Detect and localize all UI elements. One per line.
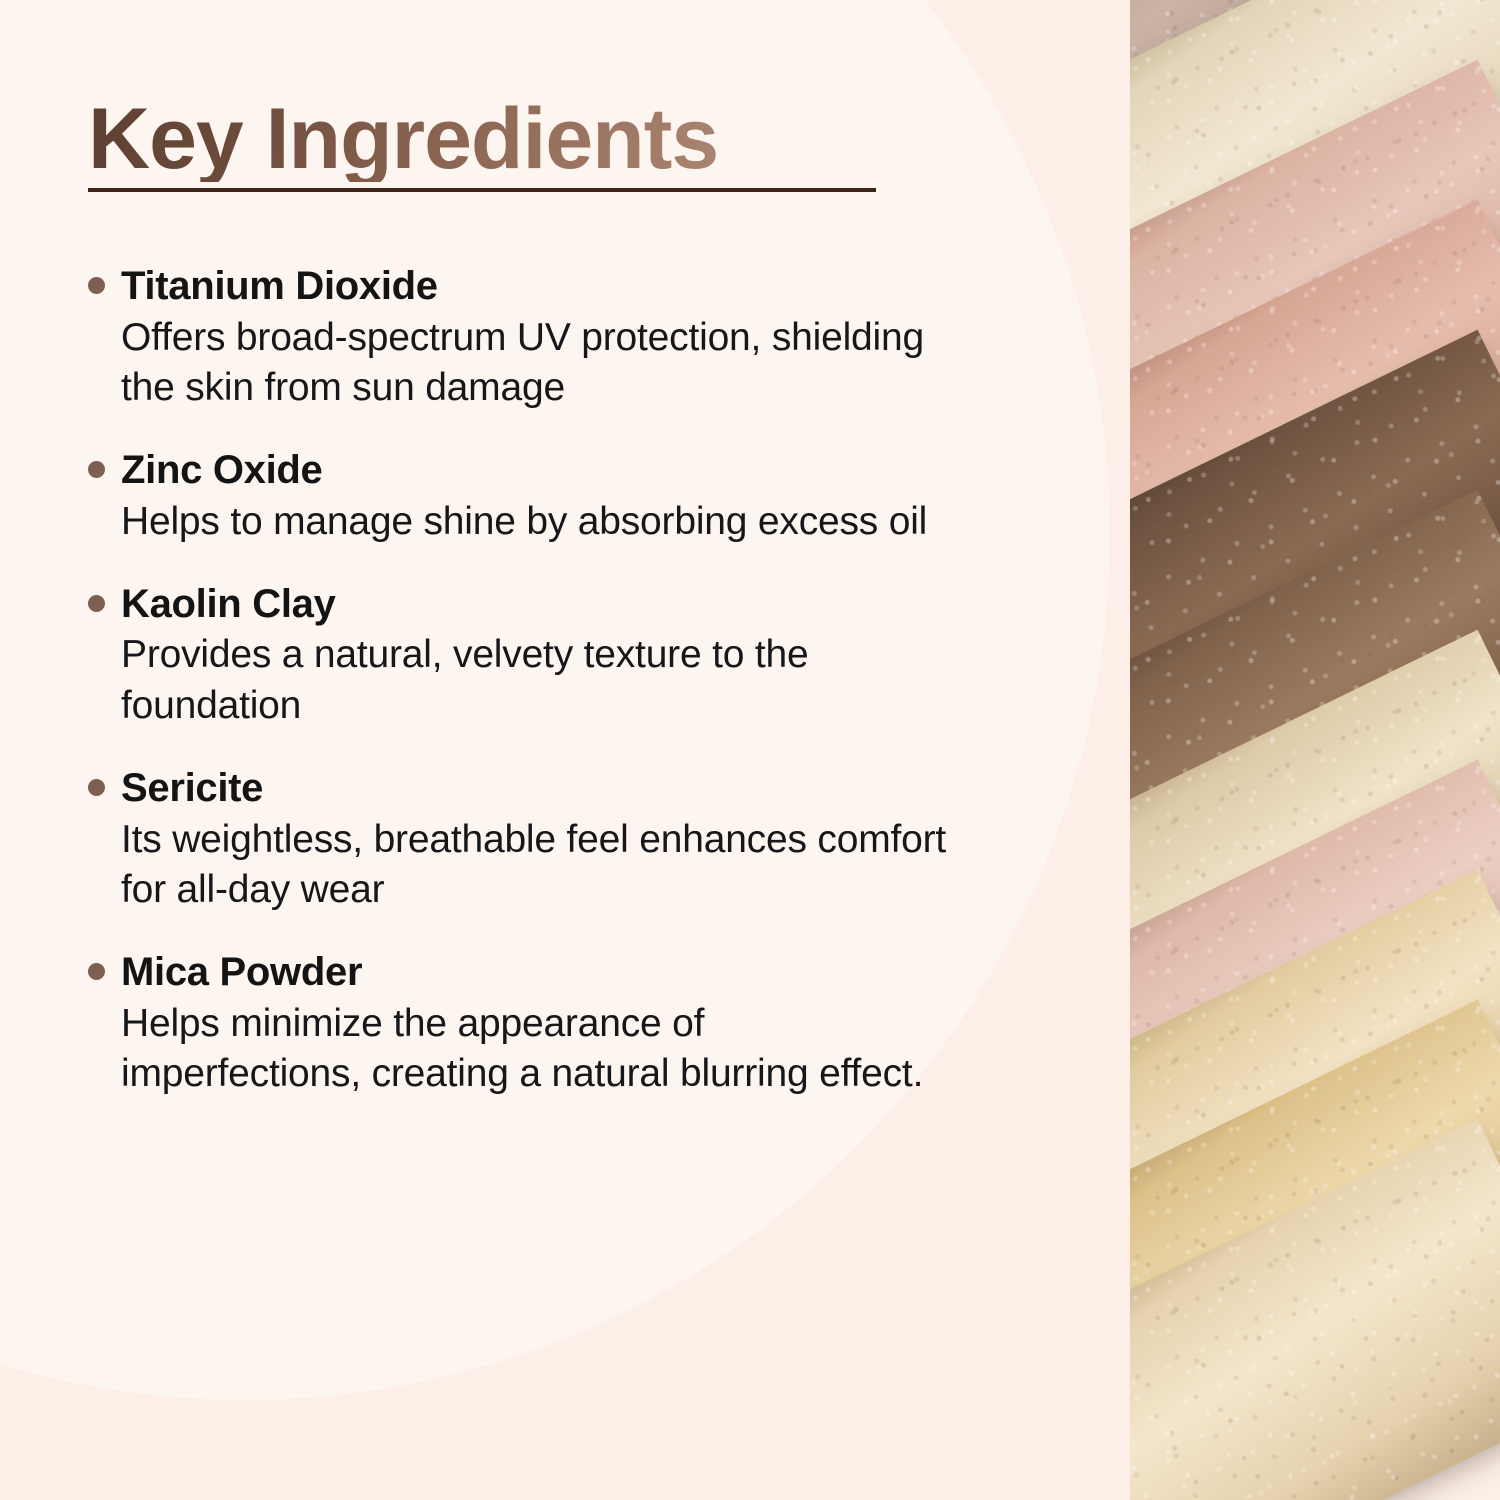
list-item: Titanium Dioxide Offers broad-spectrum U… [88,262,988,414]
ingredients-list: Titanium Dioxide Offers broad-spectrum U… [88,262,988,1132]
page-title: Key Ingredients [88,96,888,182]
ingredient-header: Sericite [88,764,988,813]
list-item: Sericite Its weightless, breathable feel… [88,764,988,916]
bullet-dot-icon [88,779,105,796]
title-underline [88,188,876,192]
ingredient-name: Sericite [121,764,263,813]
ingredient-description: Offers broad-spectrum UV protection, shi… [121,313,951,414]
bullet-dot-icon [88,595,105,612]
title-block: Key Ingredients [88,96,888,192]
powder-swatch-image [1130,0,1500,1500]
ingredient-description: Helps minimize the appearance of imperfe… [121,999,951,1100]
ingredient-name: Titanium Dioxide [121,262,438,311]
ingredient-header: Mica Powder [88,948,988,997]
list-item: Kaolin Clay Provides a natural, velvety … [88,580,988,732]
ingredient-header: Titanium Dioxide [88,262,988,311]
ingredient-header: Zinc Oxide [88,446,988,495]
list-item: Zinc Oxide Helps to manage shine by abso… [88,446,988,547]
ingredient-description: Its weightless, breathable feel enhances… [121,815,951,916]
content-column: Key Ingredients Titanium Dioxide Offers … [0,0,1110,1500]
ingredient-name: Zinc Oxide [121,446,323,495]
bullet-dot-icon [88,461,105,478]
ingredient-header: Kaolin Clay [88,580,988,629]
list-item: Mica Powder Helps minimize the appearanc… [88,948,988,1100]
bullet-dot-icon [88,277,105,294]
ingredient-name: Kaolin Clay [121,580,336,629]
ingredient-name: Mica Powder [121,948,362,997]
bullet-dot-icon [88,963,105,980]
infographic-page: Key Ingredients Titanium Dioxide Offers … [0,0,1500,1500]
ingredient-description: Helps to manage shine by absorbing exces… [121,497,951,548]
ingredient-description: Provides a natural, velvety texture to t… [121,630,951,731]
